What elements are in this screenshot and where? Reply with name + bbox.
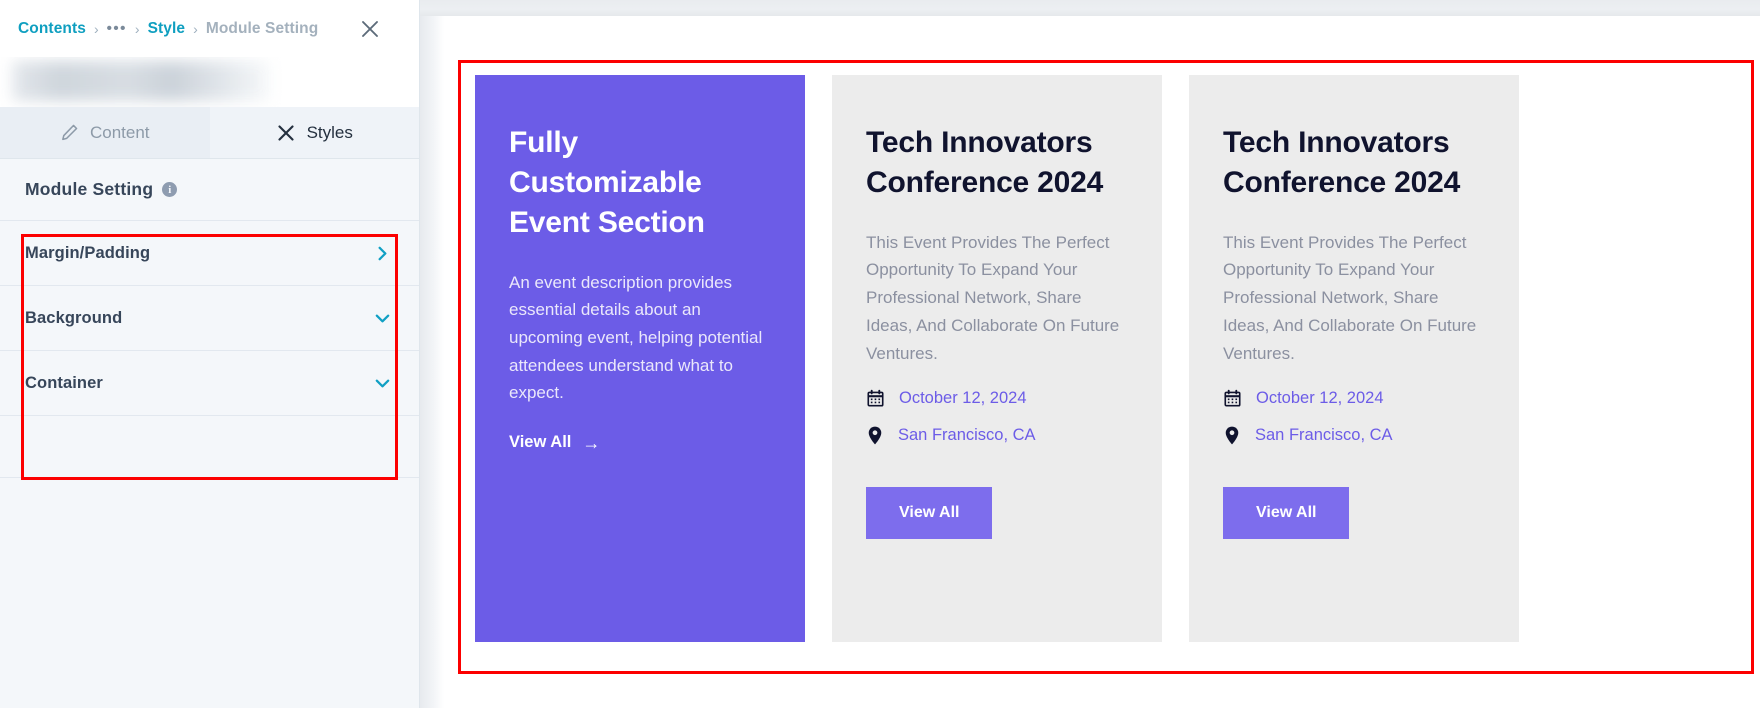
card-description: An event description provides essential … [509, 269, 771, 408]
event-card[interactable]: Tech Innovators Conference 2024 This Eve… [832, 75, 1162, 642]
tab-content[interactable]: Content [0, 107, 210, 158]
view-all-button[interactable]: View All [866, 487, 992, 539]
card-title: Tech Innovators Conference 2024 [866, 123, 1128, 203]
blurred-text-block [12, 61, 270, 101]
card-title: Fully Customizable Event Section [509, 123, 771, 243]
breadcrumb-item-contents[interactable]: Contents [18, 20, 86, 38]
sidebar-header: Contents › ••• › Style › Module Setting [0, 0, 419, 57]
accordion-item-background[interactable]: Background [0, 286, 419, 351]
canvas-left-gutter [420, 16, 444, 708]
accordion-empty-row [0, 416, 419, 478]
breadcrumb-separator-2: › [135, 21, 140, 37]
breadcrumb-separator-1: › [94, 21, 99, 37]
card-location-text[interactable]: San Francisco, CA [1255, 426, 1393, 445]
chevron-right-icon[interactable] [374, 245, 391, 262]
tab-content-label: Content [90, 123, 150, 143]
card-title: Tech Innovators Conference 2024 [1223, 123, 1485, 203]
map-pin-icon [1223, 426, 1241, 445]
settings-accordion: Margin/Padding Background Container [0, 221, 419, 478]
calendar-icon [1223, 389, 1242, 408]
card-location-row: San Francisco, CA [866, 426, 1128, 445]
card-date-row: October 12, 2024 [866, 389, 1128, 408]
redacted-module-title [0, 57, 419, 107]
card-description: This Event Provides The Perfect Opportun… [866, 229, 1128, 368]
brush-x-icon [276, 123, 296, 143]
module-setting-header: Module Setting i [0, 159, 419, 221]
card-date-text[interactable]: October 12, 2024 [1256, 389, 1384, 408]
calendar-icon [866, 389, 885, 408]
breadcrumb-item-module-setting: Module Setting [206, 20, 318, 38]
event-card-intro[interactable]: Fully Customizable Event Section An even… [475, 75, 805, 642]
chevron-down-icon[interactable] [374, 375, 391, 392]
view-all-link[interactable]: View All → [509, 433, 600, 452]
event-cards-container: Fully Customizable Event Section An even… [475, 75, 1760, 642]
breadcrumb: Contents › ••• › Style › Module Setting [18, 20, 355, 38]
card-location-row: San Francisco, CA [1223, 426, 1485, 445]
settings-sidebar: Contents › ••• › Style › Module Setting … [0, 0, 420, 708]
card-description: This Event Provides The Perfect Opportun… [1223, 229, 1485, 368]
breadcrumb-ellipsis[interactable]: ••• [107, 20, 127, 37]
event-card[interactable]: Tech Innovators Conference 2024 This Eve… [1189, 75, 1519, 642]
card-date-text[interactable]: October 12, 2024 [899, 389, 1027, 408]
card-date-row: October 12, 2024 [1223, 389, 1485, 408]
page-title: Module Setting [25, 179, 153, 200]
close-icon[interactable] [355, 14, 385, 44]
sidebar-tabs: Content Styles [0, 107, 419, 159]
map-pin-icon [866, 426, 884, 445]
chevron-down-icon[interactable] [374, 310, 391, 327]
tab-styles[interactable]: Styles [210, 107, 420, 158]
card-location-text[interactable]: San Francisco, CA [898, 426, 1036, 445]
accordion-item-container[interactable]: Container [0, 351, 419, 416]
view-all-button[interactable]: View All [1223, 487, 1349, 539]
accordion-label: Margin/Padding [25, 244, 150, 263]
arrow-right-icon: → [582, 434, 600, 452]
accordion-label: Background [25, 309, 122, 328]
tab-styles-label: Styles [307, 123, 353, 143]
breadcrumb-item-style[interactable]: Style [148, 20, 186, 38]
preview-canvas: Fully Customizable Event Section An even… [420, 0, 1760, 708]
info-icon[interactable]: i [162, 182, 177, 197]
canvas-top-strip [420, 0, 1760, 16]
accordion-item-margin-padding[interactable]: Margin/Padding [0, 221, 419, 286]
breadcrumb-separator-3: › [193, 21, 198, 37]
view-all-link-label: View All [509, 433, 571, 452]
pencil-icon [60, 123, 79, 142]
accordion-label: Container [25, 374, 103, 393]
